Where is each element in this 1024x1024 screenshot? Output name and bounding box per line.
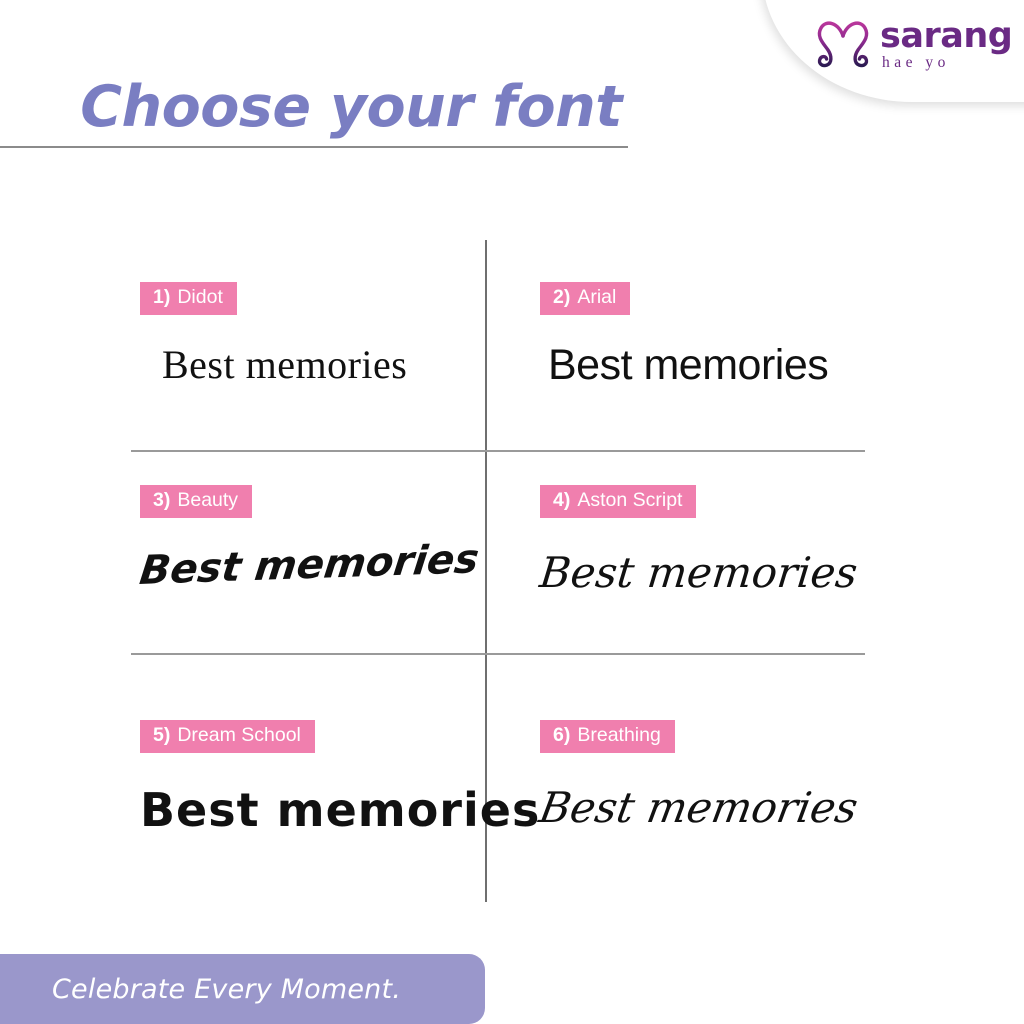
font-number-3: 3) [153,489,170,511]
font-option-6[interactable]: 6)Breathing Best memories [540,720,1010,832]
font-label-badge-2: 2)Arial [540,282,630,315]
font-label-badge-5: 5)Dream School [140,720,315,753]
font-name-4: Aston Script [577,489,682,511]
brand-logo-card: sarang hae yo [762,0,1024,102]
grid-horizontal-divider-1 [131,450,865,452]
footer-tagline-banner: Celebrate Every Moment. [0,954,485,1024]
font-name-1: Didot [177,286,223,308]
title-underline-rule [0,146,628,148]
brand-wordmark: sarang hae yo [880,20,1012,71]
brand-logo: sarang hae yo [812,16,1012,74]
font-sample-4: Best memories [537,548,1012,597]
grid-horizontal-divider-2 [131,653,865,655]
font-number-1: 1) [153,286,170,308]
font-sample-6: Best memories [536,783,1015,832]
font-label-badge-3: 3)Beauty [140,485,252,518]
font-name-2: Arial [577,286,616,308]
font-showcase-page: { "brand": { "name_primary": "sarang", "… [0,0,1024,1024]
font-option-2[interactable]: 2)Arial Best memories [540,282,1010,390]
font-grid: 1)Didot Best memories 2)Arial Best memor… [0,240,1024,902]
font-name-3: Beauty [177,489,238,511]
font-number-5: 5) [153,724,170,746]
font-option-4[interactable]: 4)Aston Script Best memories [540,485,1010,597]
font-label-badge-6: 6)Breathing [540,720,675,753]
font-sample-2: Best memories [548,341,1010,390]
brand-name-primary: sarang [880,20,1012,53]
font-number-6: 6) [553,724,570,746]
brand-name-secondary: hae yo [882,55,1012,71]
page-title: Choose your font [0,78,628,138]
font-name-6: Breathing [577,724,660,746]
font-label-badge-1: 1)Didot [140,282,237,315]
font-label-badge-4: 4)Aston Script [540,485,696,518]
twin-swan-heart-icon [812,16,874,74]
font-number-2: 2) [553,286,570,308]
font-name-5: Dream School [177,724,301,746]
footer-tagline: Celebrate Every Moment. [52,974,401,1005]
page-header: Choose your font [0,78,628,148]
font-number-4: 4) [553,489,570,511]
